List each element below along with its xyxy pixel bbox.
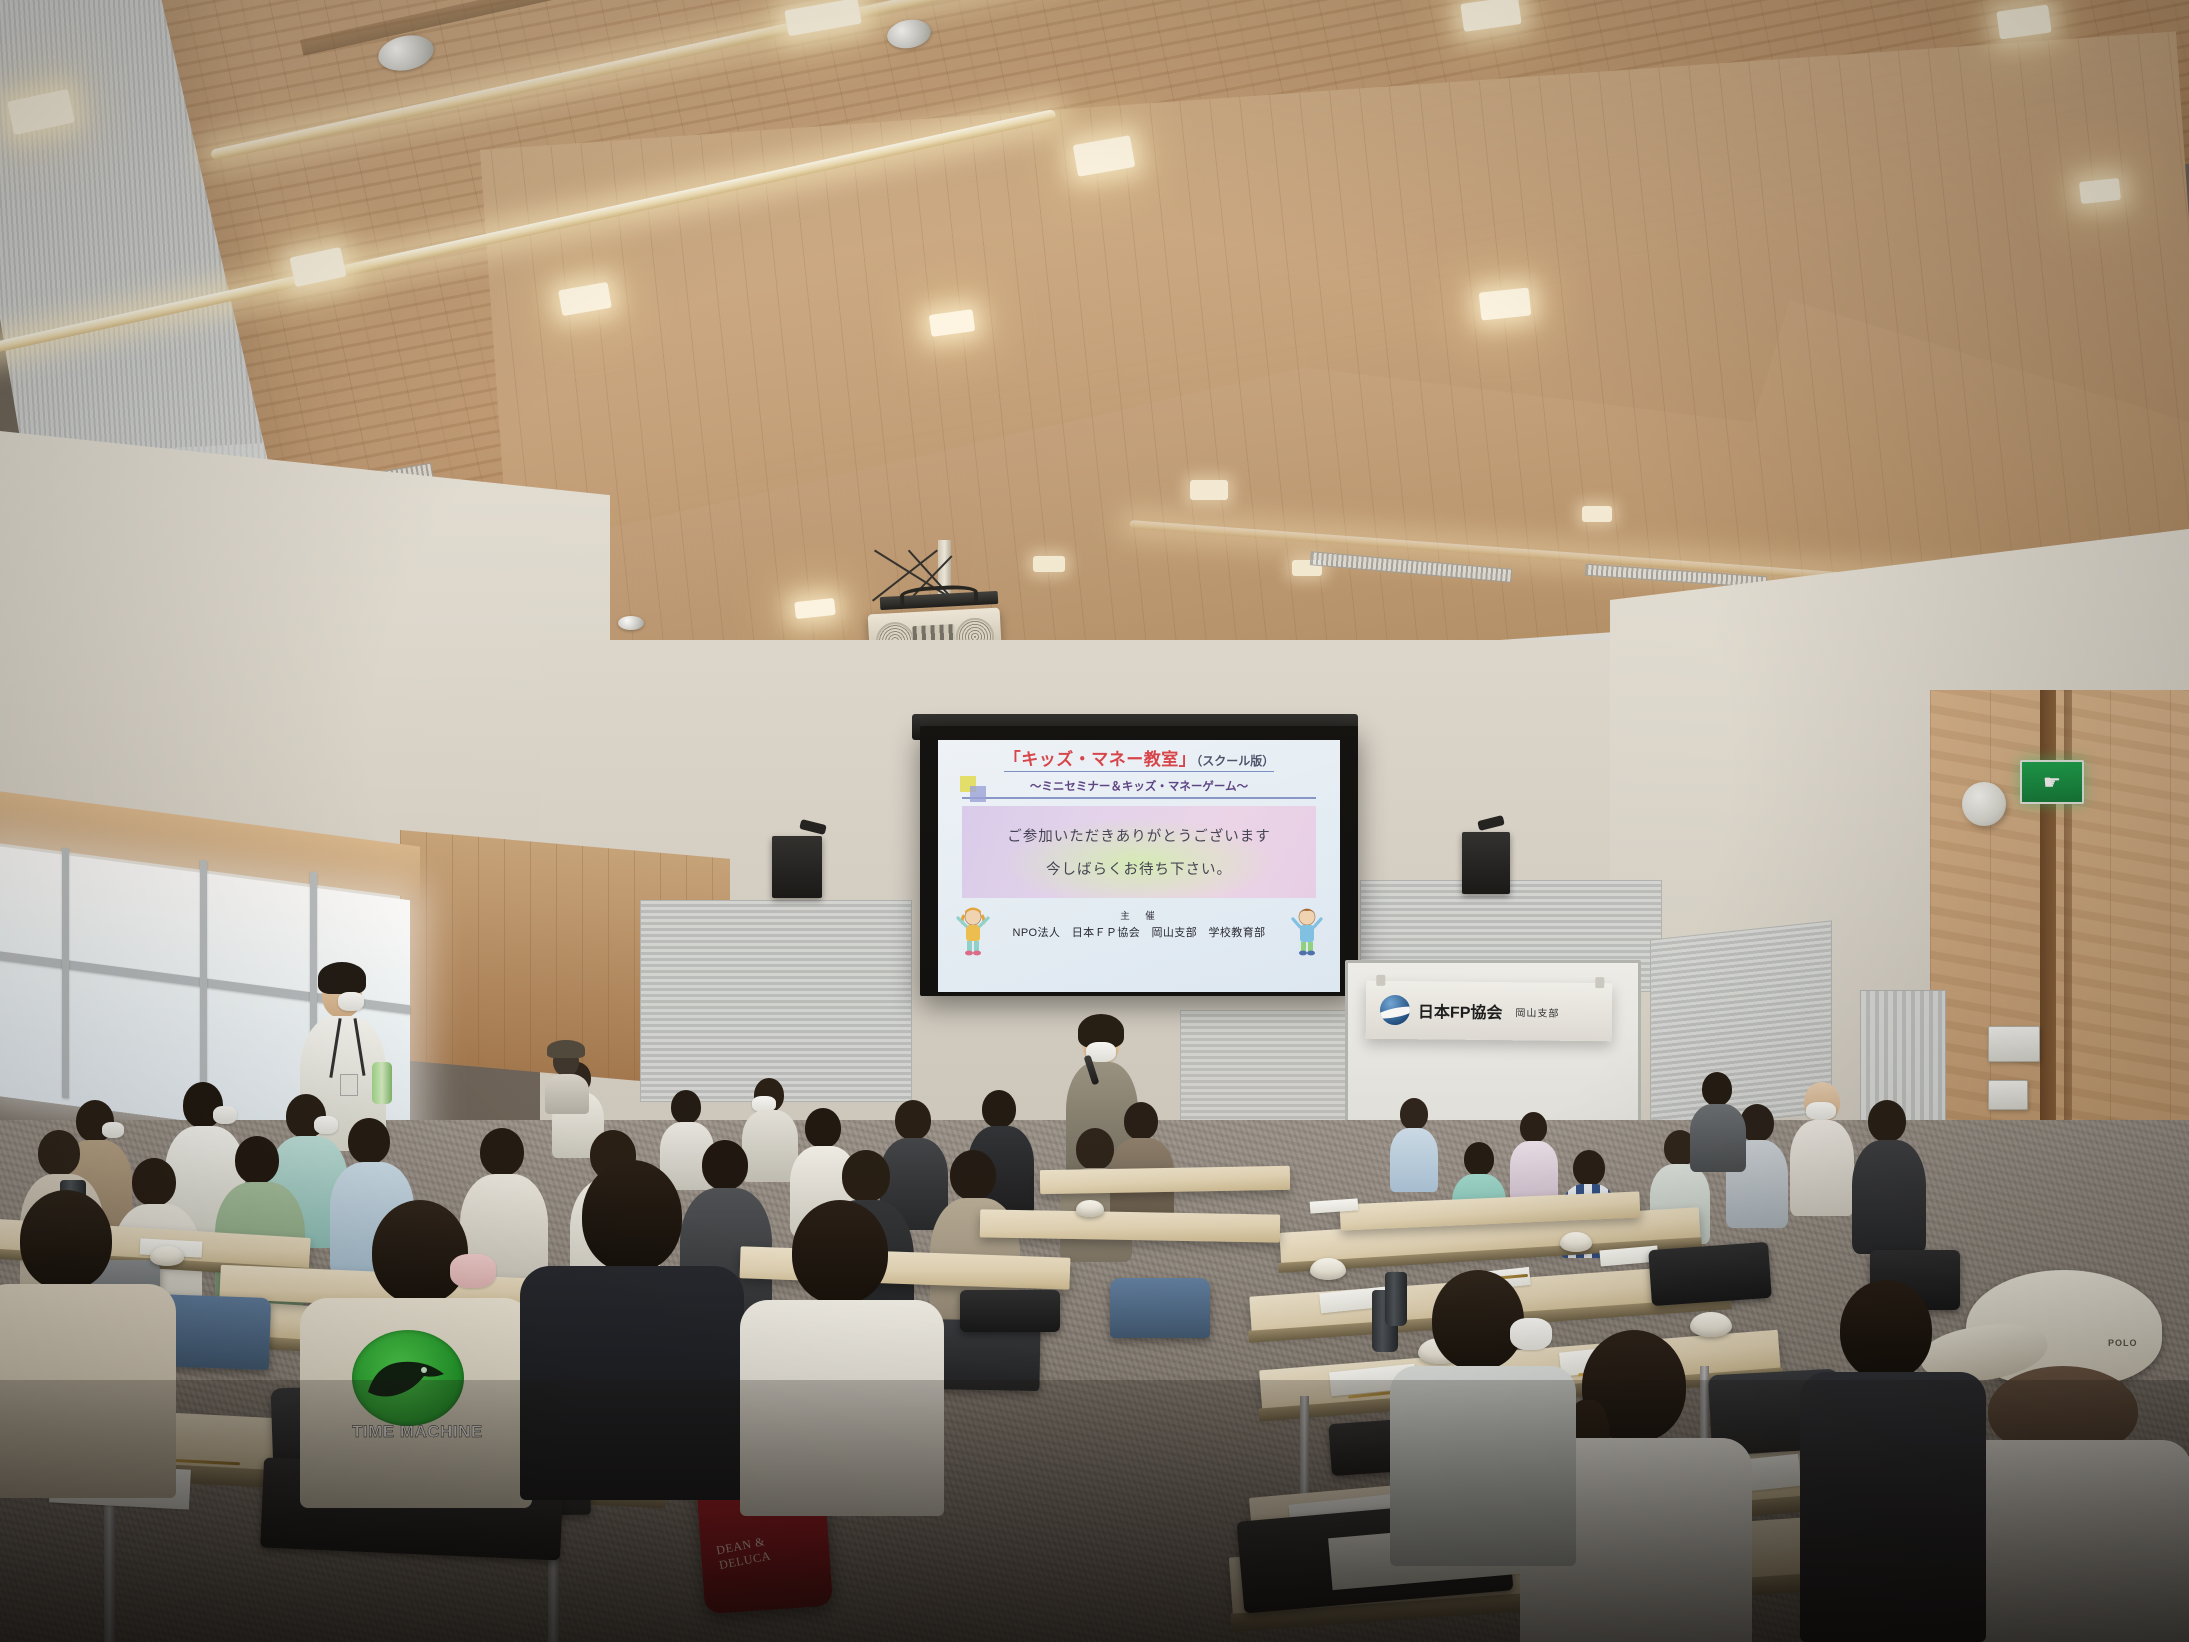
child-head xyxy=(372,1200,468,1304)
child-face-mask xyxy=(1510,1318,1552,1350)
audience-adult xyxy=(1852,1100,1922,1250)
smoke-detector-icon xyxy=(1962,782,2006,826)
adult-head xyxy=(1124,1102,1158,1140)
downlight xyxy=(1190,480,1228,500)
child-head xyxy=(1400,1098,1428,1130)
paper-bowl[interactable] xyxy=(1310,1258,1346,1280)
adult-head xyxy=(671,1090,701,1124)
emergency-exit-sign: ☛ xyxy=(2020,760,2084,804)
adult-head xyxy=(1868,1100,1906,1142)
child-head xyxy=(348,1118,390,1164)
window-mullion xyxy=(62,848,69,1099)
slide-message-line-2: 今しばらくお待ち下さい。 xyxy=(1046,858,1232,879)
audience-adult xyxy=(1790,1082,1852,1212)
light-switch-panel[interactable] xyxy=(1988,1026,2040,1062)
slide-title-main: 「キッズ・マネー教室」 xyxy=(1004,750,1197,769)
downlight xyxy=(1582,506,1612,522)
slide-divider xyxy=(962,797,1316,799)
audience-child xyxy=(1390,1098,1438,1188)
fp-association-banner: 日本FP協会 岡山支部 xyxy=(1366,981,1613,1042)
adult-head xyxy=(950,1150,996,1200)
chair[interactable] xyxy=(1110,1278,1210,1338)
audience-adult xyxy=(1690,1072,1744,1168)
child-face-mask xyxy=(450,1254,496,1288)
paper-bowl[interactable] xyxy=(1076,1200,1104,1217)
adult-body xyxy=(1790,1120,1854,1216)
child-face-mask xyxy=(102,1122,124,1138)
projection-screen: 「キッズ・マネー教室」（スクール版） ～ミニセミナー＆キッズ・マネーゲーム～ ご… xyxy=(938,740,1340,992)
adult-head xyxy=(480,1128,524,1176)
slide-host-label: 主 催 xyxy=(1120,908,1158,922)
downlight xyxy=(1479,287,1532,320)
cap-brand-text: POLO xyxy=(2108,1338,2138,1348)
child-head xyxy=(1573,1150,1605,1186)
adult-hat xyxy=(547,1040,585,1058)
slide-subtitle: ～ミニセミナー＆キッズ・マネーゲーム～ xyxy=(1030,778,1248,794)
wall-speaker-left xyxy=(772,836,822,898)
banner-organization-name: 日本FP協会 xyxy=(1418,998,1503,1023)
ceiling-sprinkler xyxy=(618,616,644,630)
black-bag[interactable] xyxy=(960,1290,1060,1332)
adult-head xyxy=(1076,1128,1114,1170)
black-bag[interactable] xyxy=(1648,1242,1772,1306)
kid-clipart-girl xyxy=(956,906,990,958)
seminar-room-photo: ☛ 「キッズ・マネー教室」（スクール版） ～ミニセミナー＆キッズ・マネーゲーム～… xyxy=(0,0,2189,1642)
adult-face-mask xyxy=(1806,1102,1836,1120)
fp-wave-logo-icon xyxy=(1380,995,1410,1025)
adult-head xyxy=(805,1108,841,1148)
adult-body xyxy=(545,1074,589,1114)
window-blinds-back-left[interactable] xyxy=(640,900,912,1102)
adult-face-mask xyxy=(213,1106,237,1124)
deco-square-blue xyxy=(970,786,986,802)
running-man-icon: ☛ xyxy=(2043,770,2061,795)
paper-bowl[interactable] xyxy=(1560,1232,1592,1252)
slide-message-line-1: ご参加いただきありがとうございます xyxy=(1007,825,1271,846)
desk xyxy=(1040,1166,1290,1194)
staff-hair xyxy=(318,962,366,994)
downlight xyxy=(1033,556,1065,572)
child-head xyxy=(1464,1142,1494,1176)
staff-id-badge xyxy=(340,1074,358,1096)
adult-head xyxy=(982,1090,1016,1128)
person-head xyxy=(1840,1280,1932,1380)
slide-host-organization: NPO法人 日本ＦＰ協会 岡山支部 学校教育部 xyxy=(1012,924,1265,940)
adult-head xyxy=(20,1190,112,1290)
adult-head xyxy=(842,1150,890,1202)
slide-message-band: ご参加いただきありがとうございます 今しばらくお待ち下さい。 xyxy=(962,806,1316,898)
hand-sanitizer-bottle xyxy=(372,1062,392,1104)
floor-shadow-foreground xyxy=(0,1380,2189,1642)
downlight xyxy=(2079,178,2121,204)
window-mullion xyxy=(200,860,207,1111)
adult-body xyxy=(1690,1104,1746,1172)
adult-head xyxy=(792,1200,888,1304)
kid-clipart-boy xyxy=(1290,906,1324,958)
banner-branch-name: 岡山支部 xyxy=(1515,1004,1559,1019)
desk xyxy=(980,1209,1280,1242)
staff-face-mask xyxy=(338,992,364,1011)
slide-content: 「キッズ・マネー教室」（スクール版） ～ミニセミナー＆キッズ・マネーゲーム～ ご… xyxy=(938,740,1340,992)
wall-controller-panel[interactable] xyxy=(1988,1080,2028,1110)
adult-head xyxy=(895,1100,931,1140)
child-body xyxy=(1390,1128,1438,1192)
adult-body xyxy=(1852,1140,1926,1254)
audience-adult-cap xyxy=(545,1042,587,1106)
audience-child xyxy=(1510,1112,1558,1198)
slide-title-suffix: （スクール版） xyxy=(1196,754,1274,768)
child-head xyxy=(1520,1112,1547,1143)
child-body xyxy=(1510,1141,1558,1201)
wall-speaker-right xyxy=(1462,832,1510,894)
child-head xyxy=(235,1136,279,1184)
audience-adult xyxy=(1110,1102,1172,1220)
child-head xyxy=(1432,1270,1524,1370)
slide-title: 「キッズ・マネー教室」（スクール版） xyxy=(1004,745,1275,772)
adult-head xyxy=(38,1130,80,1176)
adult-head xyxy=(1702,1072,1732,1106)
child-head xyxy=(582,1160,682,1272)
